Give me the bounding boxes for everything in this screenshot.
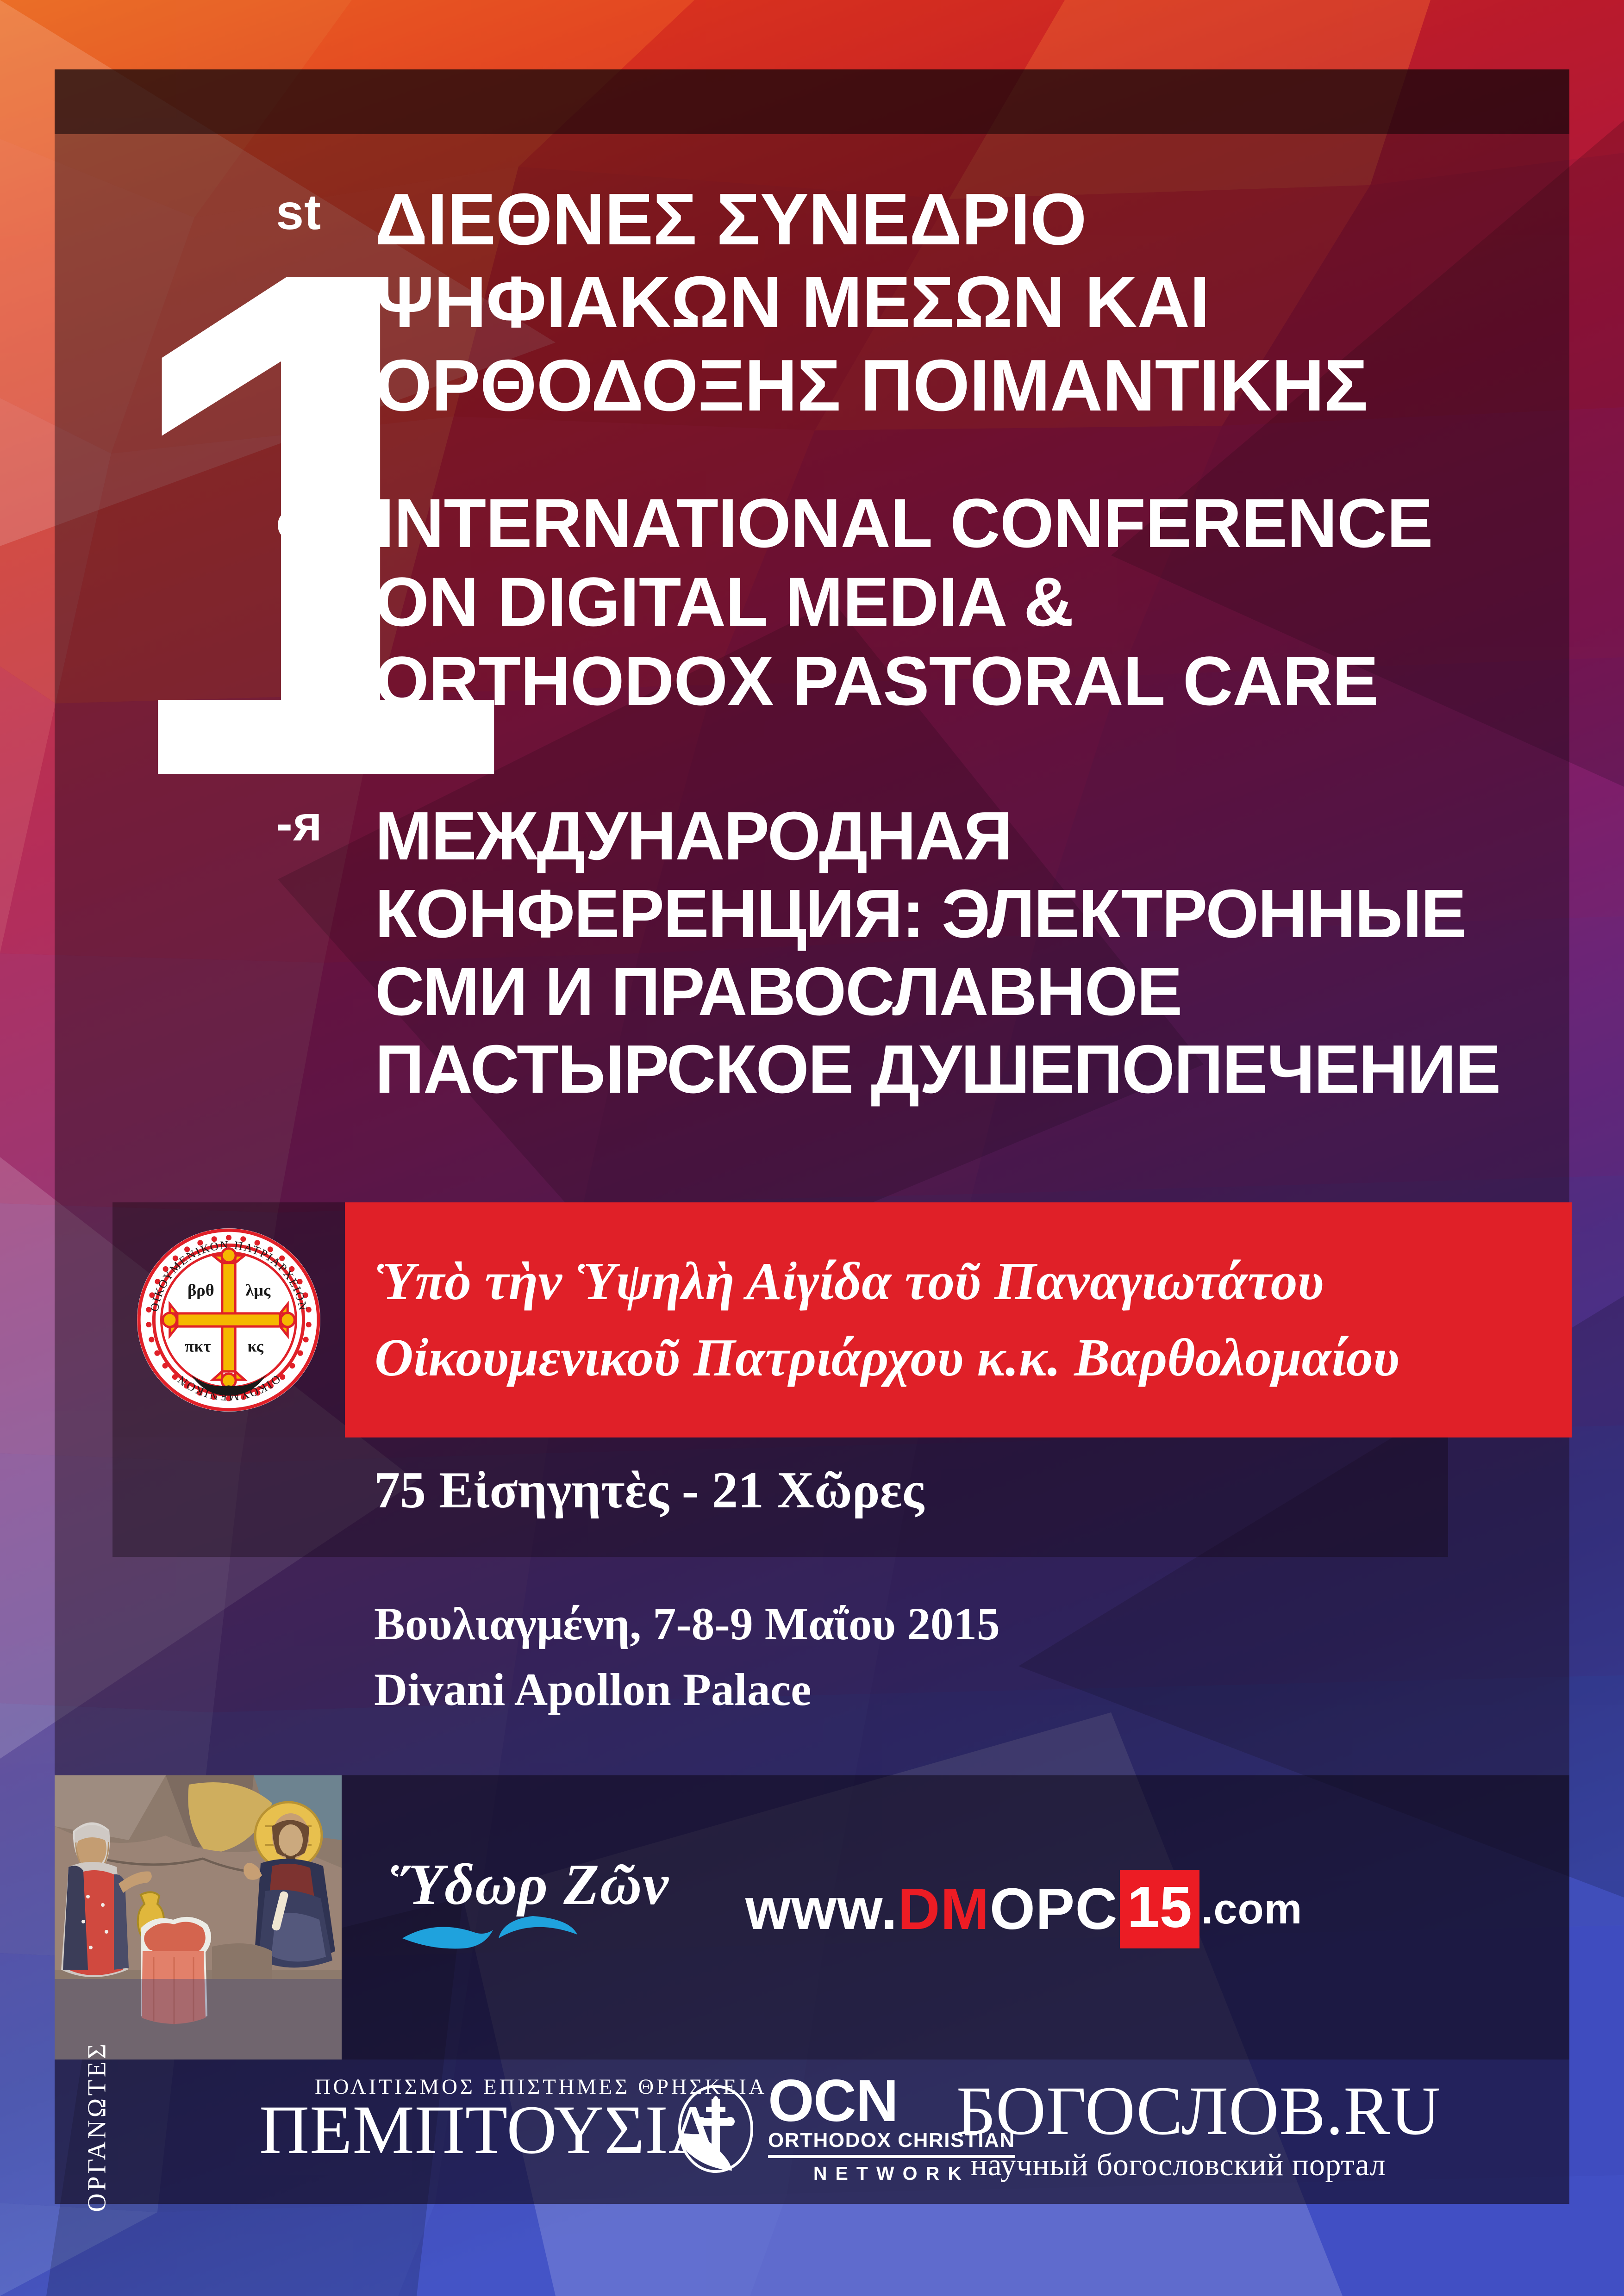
ordinal-suffix-greek: st xyxy=(276,187,321,237)
water-wave-icon xyxy=(394,1911,635,1953)
organizers-label-text: ΟΡΓΑΝΩΤΕΣ xyxy=(82,2041,112,2212)
samaritan-woman-fresco-image xyxy=(55,1775,342,2060)
bogoslov-wordmark: БОГОСЛОВ.RU xyxy=(956,2076,1400,2147)
svg-text:βρθ: βρθ xyxy=(187,1281,214,1299)
ocn-cross-emblem-icon xyxy=(674,2083,758,2175)
speakers-countries-text: 75 Εἰσηγητὲς - 21 Χῶρες xyxy=(374,1451,924,1529)
conference-poster: 1 st o -я ΔΙΕΘΝΕΣ ΣΥΝΕΔΡΙΟ ΨΗΦΙΑΚΩΝ ΜΕΣΩ… xyxy=(0,0,1624,2296)
title-greek: ΔΙΕΘΝΕΣ ΣΥΝΕΔΡΙΟ ΨΗΦΙΑΚΩΝ ΜΕΣΩΝ ΚΑΙ ΟΡΘΟ… xyxy=(375,178,1368,427)
ydor-zon-wordmark: Ὕδωρ Ζῶν xyxy=(391,1856,678,1914)
ordinal-suffix-english: o xyxy=(276,496,307,546)
patriarchate-seal-container: ΟΙΚΟΥΜΕΝΙΚΟΝ ΠΑΤΡΙΑΡΧΕΙΟΝ ΟΙΚΟΥΜΕΝΙΚΟΝ β… xyxy=(112,1202,345,1437)
ocn-logo: OCN ORTHODOX CHRISTIAN NETWORK xyxy=(674,2073,961,2184)
aegis-line-2: Οἰκουμενικοῦ Πατριάρχου κ.κ. Βαρθολομαίο… xyxy=(375,1320,1399,1396)
title-russian: МЕЖДУНАРОДНАЯ КОНФЕРЕНЦИЯ: ЭЛЕКТРОННЫЕ С… xyxy=(375,797,1500,1108)
pemptousia-logo: ΠΟΛΙΤΙΣΜΟΣ ΕΠΙΣΤΗΜΕΣ ΘΡΗΣΚΕΙΑ ΠΕΜΠΤΟΥΣΙΑ xyxy=(259,2074,648,2181)
url-opc: OPC xyxy=(990,1880,1118,1938)
venue-place-date: Βουλιαγμένη, 7-8-9 Μαΐου 2015 xyxy=(374,1591,1000,1657)
title-russian-line-2: КОНФЕРЕНЦИЯ: ЭЛЕКТРОННЫЕ xyxy=(375,875,1500,953)
aegis-line-1: Ὑπὸ τὴν Ὑψηλὴ Αἰγίδα τοῦ Παναγιωτάτου xyxy=(375,1244,1399,1320)
url-year-badge: 15 xyxy=(1120,1870,1199,1948)
title-greek-line-3: ΟΡΘΟΔΟΞΗΣ ΠΟΙΜΑΝΤΙΚΗΣ xyxy=(375,344,1368,427)
ordinal-suffix-russian: -я xyxy=(276,798,323,848)
venue-hotel: Divani Apollon Palace xyxy=(374,1657,1000,1723)
title-english-line-2: ON DIGITAL MEDIA & xyxy=(375,562,1433,641)
title-english-line-1: INTERNATIONAL CONFERENCE xyxy=(375,484,1433,562)
title-greek-line-1: ΔΙΕΘΝΕΣ ΣΥΝΕΔΡΙΟ xyxy=(375,178,1368,261)
svg-text:κς: κς xyxy=(247,1337,263,1356)
pemptousia-wordmark: ΠΕΜΠΤΟΥΣΙΑ xyxy=(259,2094,648,2167)
patriarch-aegis-banner: Ὑπὸ τὴν Ὑψηλὴ Αἰγίδα τοῦ Παναγιωτάτου Οἰ… xyxy=(345,1202,1572,1437)
svg-text:πκτ: πκτ xyxy=(185,1337,211,1356)
bogoslov-logo: БОГОСЛОВ.RU научный богословский портал xyxy=(956,2076,1400,2182)
aegis-text: Ὑπὸ τὴν Ὑψηλὴ Αἰγίδα τοῦ Παναγιωτάτου Οἰ… xyxy=(345,1244,1399,1396)
title-russian-line-4: ПАСТЫРСКОЕ ДУШЕПОПЕЧЕНИЕ xyxy=(375,1031,1500,1108)
bogoslov-tagline: научный богословский портал xyxy=(956,2147,1400,2183)
title-russian-line-3: СМИ И ПРАВОСЛАВНОЕ xyxy=(375,953,1500,1031)
svg-text:λμς: λμς xyxy=(245,1281,270,1299)
url-dm: DM xyxy=(898,1880,989,1938)
organizers-label: ΟΡΓΑΝΩΤΕΣ xyxy=(69,2050,125,2203)
url-tld: .com xyxy=(1201,1888,1302,1930)
title-russian-line-1: МЕЖДУНАРОДНАЯ xyxy=(375,797,1500,875)
venue-block: Βουλιαγμένη, 7-8-9 Μαΐου 2015 Divani Apo… xyxy=(374,1591,1000,1723)
title-greek-line-2: ΨΗΦΙΑΚΩΝ ΜΕΣΩΝ ΚΑΙ xyxy=(375,261,1368,344)
title-english-line-3: ORTHODOX PASTORAL CARE xyxy=(375,641,1433,720)
ecumenical-patriarchate-seal-icon: ΟΙΚΟΥΜΕΝΙΚΟΝ ΠΑΤΡΙΑΡΧΕΙΟΝ ΟΙΚΟΥΜΕΝΙΚΟΝ β… xyxy=(135,1226,322,1413)
ydor-zon-logo: Ὕδωρ Ζῶν xyxy=(391,1856,678,1958)
url-www: www. xyxy=(745,1880,898,1938)
website-url[interactable]: www. DM OPC 15 .com xyxy=(745,1870,1302,1948)
title-english: INTERNATIONAL CONFERENCE ON DIGITAL MEDI… xyxy=(375,484,1433,720)
